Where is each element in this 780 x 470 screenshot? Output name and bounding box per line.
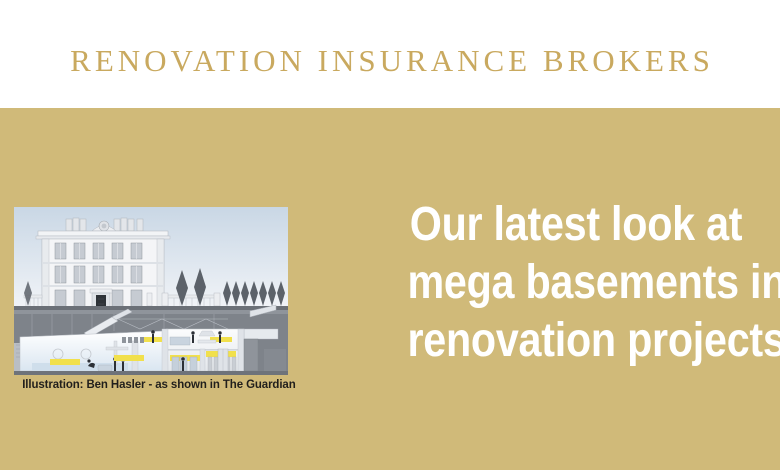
brand-title: RENOVATION INSURANCE BROKERS (66, 45, 714, 76)
room-label-servants-quarters (114, 355, 144, 361)
slide-canvas: RENOVATION INSURANCE BROKERS Our latest … (0, 0, 780, 470)
header-band: RENOVATION INSURANCE BROKERS (0, 0, 780, 108)
headline-line-3: renovation projects (407, 312, 744, 370)
room-label-swimming-pool (50, 359, 80, 365)
headline-line-1: Our latest look at (407, 196, 744, 254)
basement-cutaway-illustration (14, 207, 288, 375)
headline: Our latest look at mega basements in ren… (407, 196, 744, 370)
headline-line-2: mega basements in (407, 254, 744, 312)
illustration-caption: Illustration: Ben Hasler - as shown in T… (22, 376, 280, 392)
illustration-image (14, 207, 288, 375)
car-lift-shaft (218, 349, 228, 371)
